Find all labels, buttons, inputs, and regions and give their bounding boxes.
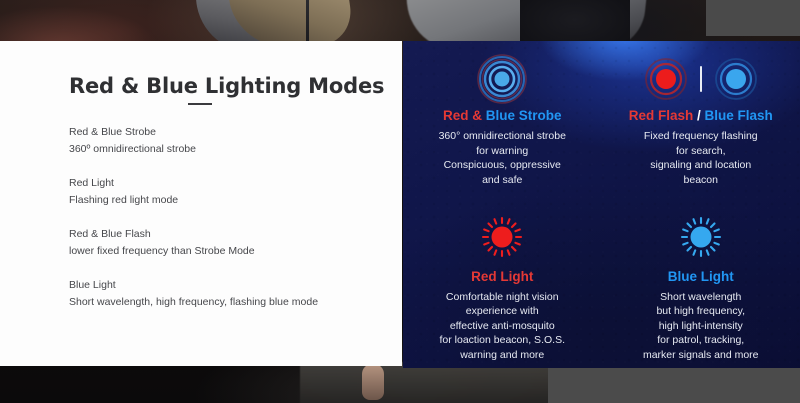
icon-divider <box>700 66 702 92</box>
mode-name: Red Light <box>69 175 369 192</box>
gray-block-top-right <box>706 0 800 36</box>
poster-stage: Red & Blue Lighting Modes Red & Blue Str… <box>0 0 800 403</box>
icon-row <box>481 213 523 261</box>
right-navy-panel: Red & Blue Strobe 360° omnidirectional s… <box>403 41 800 368</box>
feature-cell-flash: Red Flash / Blue Flash Fixed frequency f… <box>602 41 800 205</box>
icon-row <box>476 55 528 103</box>
list-item: Blue Light Short wavelength, high freque… <box>69 277 369 311</box>
feature-grid: Red & Blue Strobe 360° omnidirectional s… <box>403 41 800 368</box>
feature-cell-red-light: Red Light Comfortable night visionexperi… <box>403 205 602 369</box>
heading-blue-part: Blue Strobe <box>486 108 562 123</box>
mode-name: Red & Blue Strobe <box>69 124 369 141</box>
cell-body-text: Fixed frequency flashingfor search,signa… <box>644 129 758 187</box>
heading-blue-part: Blue Flash <box>705 108 773 123</box>
cell-heading: Blue Light <box>668 269 734 285</box>
red-flash-dot-icon <box>644 57 688 101</box>
heading-blue-part: Blue Light <box>668 269 734 284</box>
cell-heading: Red & Blue Strobe <box>443 108 562 124</box>
mode-description: 360º omnidirectional strobe <box>69 141 369 158</box>
mode-description: Short wavelength, high frequency, flashi… <box>69 294 369 311</box>
blue-flash-dot-icon <box>714 57 758 101</box>
heading-red-part: Red Flash <box>629 108 697 123</box>
left-white-card: Red & Blue Lighting Modes Red & Blue Str… <box>0 41 402 366</box>
figure-legs <box>300 362 560 403</box>
figure-hand <box>362 364 384 400</box>
feature-cell-strobe: Red & Blue Strobe 360° omnidirectional s… <box>403 41 602 205</box>
list-item: Red Light Flashing red light mode <box>69 175 369 209</box>
cell-heading: Red Flash / Blue Flash <box>629 108 773 124</box>
blue-sun-icon <box>680 216 722 258</box>
heading-separator: / <box>697 108 705 123</box>
mode-description: lower fixed frequency than Strobe Mode <box>69 243 369 260</box>
mode-name: Blue Light <box>69 277 369 294</box>
cell-body-text: 360° omnidirectional strobefor warningCo… <box>439 129 566 187</box>
cell-body-text: Comfortable night visionexperience withe… <box>440 290 566 363</box>
mode-name: Red & Blue Flash <box>69 226 369 243</box>
heading-red-part: Red & <box>443 108 486 123</box>
list-item: Red & Blue Strobe 360º omnidirectional s… <box>69 124 369 158</box>
feature-cell-blue-light: Blue Light Short wavelengthbut high freq… <box>602 205 800 369</box>
cell-heading: Red Light <box>471 269 533 285</box>
mode-description: Flashing red light mode <box>69 192 369 209</box>
list-item: Red & Blue Flash lower fixed frequency t… <box>69 226 369 260</box>
cell-body-text: Short wavelengthbut high frequency,high … <box>643 290 759 363</box>
mode-list: Red & Blue Strobe 360º omnidirectional s… <box>69 124 369 311</box>
icon-row <box>680 213 722 261</box>
blue-concentric-ring-icon <box>476 53 528 105</box>
icon-row <box>644 55 758 103</box>
heading-red-part: Red Light <box>471 269 533 284</box>
title-underline <box>188 103 212 105</box>
gray-block-bottom-right <box>548 368 800 403</box>
page-title: Red & Blue Lighting Modes <box>69 74 384 98</box>
red-sun-icon <box>481 216 523 258</box>
